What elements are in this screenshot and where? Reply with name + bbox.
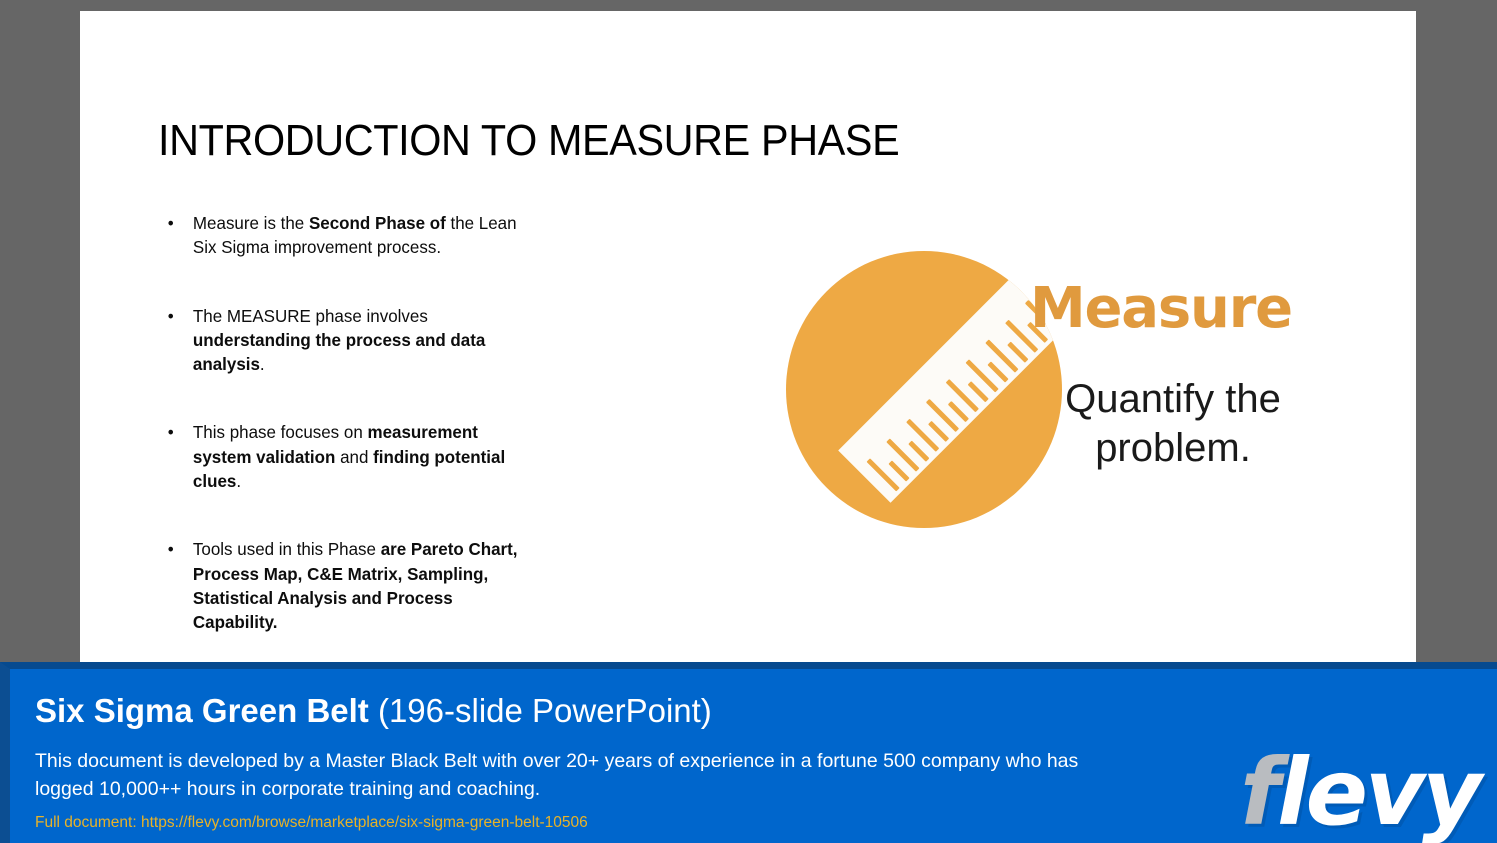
ruler-icon	[786, 251, 1062, 528]
bullet-list: •Measure is the Second Phase of the Lean…	[158, 211, 533, 635]
ruler-tick	[928, 421, 949, 442]
graphic-caption-line-2: problem.	[1038, 424, 1308, 473]
flevy-logo-f: f	[1240, 739, 1277, 843]
document-title: Six Sigma Green Belt (196-slide PowerPoi…	[35, 692, 712, 730]
page-title: INTRODUCTION TO MEASURE PHASE	[158, 116, 899, 166]
bullet-item: •Tools used in this Phase are Pareto Cha…	[158, 537, 522, 634]
bullet-item: •Measure is the Second Phase of the Lean…	[158, 211, 522, 260]
ruler-tick	[888, 460, 909, 481]
ruler-body	[838, 265, 1062, 503]
ruler-tick	[908, 441, 929, 462]
document-description: This document is developed by a Master B…	[35, 747, 1105, 803]
full-document-link[interactable]: Full document: https://flevy.com/browse/…	[35, 814, 588, 832]
bullet-text: The MEASURE phase involves understanding…	[193, 306, 485, 375]
measure-graphic: Measure Quantify the problem.	[700, 240, 1320, 530]
ruler-tick	[1007, 342, 1028, 363]
flevy-logo[interactable]: flevy	[1240, 747, 1479, 839]
graphic-caption: Quantify the problem.	[1038, 375, 1308, 473]
ruler-tick	[948, 401, 969, 422]
flevy-logo-levy: levy	[1277, 739, 1479, 843]
bullet-text: Tools used in this Phase are Pareto Char…	[193, 539, 518, 632]
bullet-item: •The MEASURE phase involves understandin…	[158, 304, 522, 377]
presentation-slide: INTRODUCTION TO MEASURE PHASE •Measure i…	[80, 11, 1416, 664]
ruler-tick	[987, 361, 1008, 382]
document-title-light: (196-slide PowerPoint)	[369, 692, 712, 729]
graphic-heading: Measure	[1030, 276, 1292, 341]
screenshot-root: INTRODUCTION TO MEASURE PHASE •Measure i…	[0, 0, 1497, 843]
document-title-strong: Six Sigma Green Belt	[35, 692, 369, 729]
bullet-text: Measure is the Second Phase of the Lean …	[193, 213, 517, 257]
bullet-marker-icon: •	[168, 304, 174, 328]
bullet-marker-icon: •	[168, 537, 174, 561]
flevy-promo-banner: Six Sigma Green Belt (196-slide PowerPoi…	[0, 662, 1497, 843]
ruler-tick	[968, 381, 989, 402]
bullet-text: This phase focuses on measurement system…	[193, 422, 505, 491]
graphic-caption-line-1: Quantify the	[1038, 375, 1308, 424]
bullet-marker-icon: •	[168, 211, 174, 235]
bullet-item: •This phase focuses on measurement syste…	[158, 420, 522, 493]
bullet-marker-icon: •	[168, 420, 174, 444]
